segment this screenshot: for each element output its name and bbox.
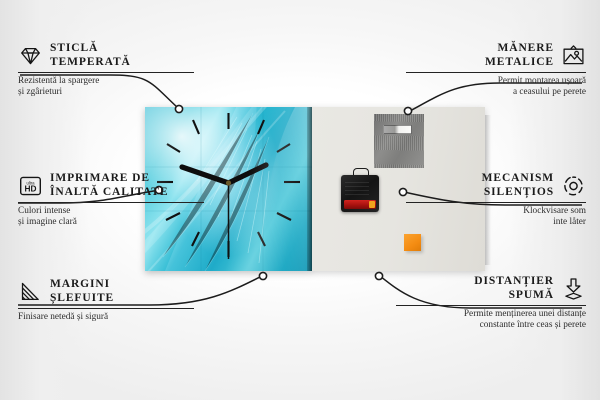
feature-divider: [18, 202, 204, 203]
metal-hanger-swatch: [374, 114, 424, 168]
feature-subtitle: Permit montarea ușoară a ceasului pe per…: [406, 76, 586, 98]
feature-sticla-temperata: STICLĂ TEMPERATĂ Rezistentă la spargere …: [18, 42, 194, 98]
ultra-hd-icon: ultra HD: [18, 174, 43, 198]
feature-subtitle: Finisare netedă și sigură: [18, 312, 194, 323]
feature-header: MECANISM SILENȚIOS: [406, 172, 586, 199]
feature-title: MARGINI ȘLEFUITE: [50, 278, 114, 305]
feature-title: DISTANȚIER SPUMĂ: [474, 275, 554, 302]
svg-text:HD: HD: [25, 183, 37, 193]
feature-divider: [406, 202, 586, 203]
feature-subtitle: Permite menținerea unei distanțe constan…: [396, 309, 586, 331]
feature-divider: [406, 72, 586, 73]
gear-icon: [561, 174, 586, 198]
feature-mecanism-silentios: MECANISM SILENȚIOS Klockvisare som inte …: [406, 172, 586, 228]
feature-header: MARGINI ȘLEFUITE: [18, 278, 194, 305]
feature-divider: [18, 308, 194, 309]
feature-manere-metalice: MĂNERE METALICE Permit montarea ușoară a…: [406, 42, 586, 98]
picture-hanger-icon: [561, 44, 586, 68]
feature-title: STICLĂ TEMPERATĂ: [50, 42, 131, 69]
feature-distantier-spuma: DISTANȚIER SPUMĂ Permite menținerea unei…: [396, 275, 586, 331]
feature-margini-slefuite: MARGINI ȘLEFUITE Finisare netedă și sigu…: [18, 278, 194, 323]
polished-edge-icon: [18, 280, 43, 304]
feature-title: MECANISM SILENȚIOS: [482, 172, 554, 199]
feature-header: DISTANȚIER SPUMĂ: [396, 275, 586, 302]
feature-divider: [396, 305, 586, 306]
movement-body: [341, 175, 379, 212]
battery: [344, 200, 376, 209]
feature-subtitle: Rezistentă la spargere și zgârieturi: [18, 76, 194, 98]
feature-imprimare-hd: ultra HD IMPRIMARE DE ÎNALTĂ CALITATE Cu…: [18, 172, 204, 228]
feature-subtitle: Klockvisare som inte låter: [406, 206, 586, 228]
feature-divider: [18, 72, 194, 73]
feature-header: ultra HD IMPRIMARE DE ÎNALTĂ CALITATE: [18, 172, 204, 199]
foam-spacer-icon: [561, 277, 586, 301]
diamond-icon: [18, 44, 43, 68]
hanger-bracket: [383, 125, 412, 134]
feature-subtitle: Culori intense și imagine clară: [18, 206, 204, 228]
foam-spacer: [404, 234, 421, 251]
feature-title: MĂNERE METALICE: [485, 42, 554, 69]
feature-header: STICLĂ TEMPERATĂ: [18, 42, 194, 69]
feature-header: MĂNERE METALICE: [406, 42, 586, 69]
infographic-canvas: STICLĂ TEMPERATĂ Rezistentă la spargere …: [0, 0, 600, 400]
quartz-movement: [341, 168, 379, 212]
feature-title: IMPRIMARE DE ÎNALTĂ CALITATE: [50, 172, 168, 199]
